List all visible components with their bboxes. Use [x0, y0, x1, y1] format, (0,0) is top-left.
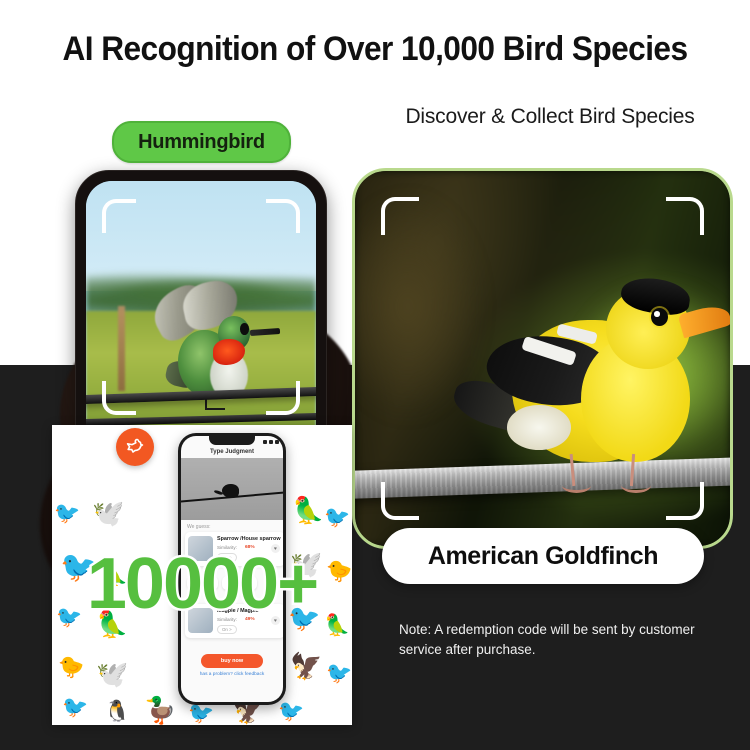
page-subtitle: Discover & Collect Bird Species [360, 105, 740, 129]
battery-icon [275, 440, 279, 444]
signal-icon [263, 440, 267, 444]
result-chip[interactable]: On > [217, 625, 237, 634]
guess-label: We guess: [187, 524, 211, 530]
result-name: Sparrow /House sparrow [217, 536, 281, 542]
hummingbird-label-text: Hummingbird [138, 131, 265, 154]
goldfinch-photo-panel [352, 168, 733, 549]
phone-notch [209, 436, 255, 445]
scan-corner-top-left-icon [102, 199, 136, 233]
purchase-note: Note: A redemption code will be sent by … [399, 620, 719, 659]
scan-corner-top-left-icon [381, 197, 419, 235]
collage-bird: 🐦 [324, 507, 350, 528]
collage-bird: 🐧 [104, 701, 130, 722]
collage-bird: 🐦 [62, 697, 88, 718]
species-count-overlay: 10000+ [52, 548, 352, 620]
hummingbird-label-badge[interactable]: Hummingbird [112, 121, 291, 163]
goldfinch-illustration [468, 284, 716, 487]
collage-bird: 🐦 [54, 503, 80, 524]
phone-left-device [75, 170, 327, 432]
collage-bird: 🦅 [290, 653, 322, 679]
fence-post [118, 306, 125, 391]
collage-bird: 🕊️ [92, 500, 124, 526]
collage-bird: 🐦 [326, 663, 352, 684]
collage-bird: 🐦 [188, 703, 214, 724]
screen-title: Type Judgment [181, 449, 283, 455]
goldfinch-label-text: American Goldfinch [428, 542, 658, 571]
scan-corner-bottom-left-icon [381, 482, 419, 520]
page-title: AI Recognition of Over 10,000 Bird Speci… [26, 30, 724, 69]
collage-bird: 🐤 [58, 657, 84, 678]
collage-bird: 🦜 [292, 497, 324, 523]
collage-bird: 🕊️ [96, 661, 128, 687]
buy-now-button[interactable]: buy now [201, 654, 263, 668]
silhouette-bird-icon [222, 484, 239, 498]
scan-corner-bottom-left-icon [102, 381, 136, 415]
scan-corner-bottom-right-icon [266, 381, 300, 415]
scan-corner-top-right-icon [266, 199, 300, 233]
goldfinch-label-badge[interactable]: American Goldfinch [382, 528, 704, 584]
collage-bird: 🦆 [144, 697, 176, 723]
feedback-link[interactable]: has a problem? click feedback [181, 672, 283, 677]
scan-corner-top-right-icon [666, 197, 704, 235]
collage-bird: 🐦 [278, 701, 304, 722]
poster-canvas: AI Recognition of Over 10,000 Bird Speci… [0, 0, 750, 750]
captured-photo [181, 458, 283, 520]
bird-icon [123, 435, 147, 459]
app-logo-badge [116, 428, 154, 466]
scan-corner-bottom-right-icon [666, 482, 704, 520]
phone-left-screen [86, 181, 316, 431]
wifi-icon [269, 440, 273, 444]
